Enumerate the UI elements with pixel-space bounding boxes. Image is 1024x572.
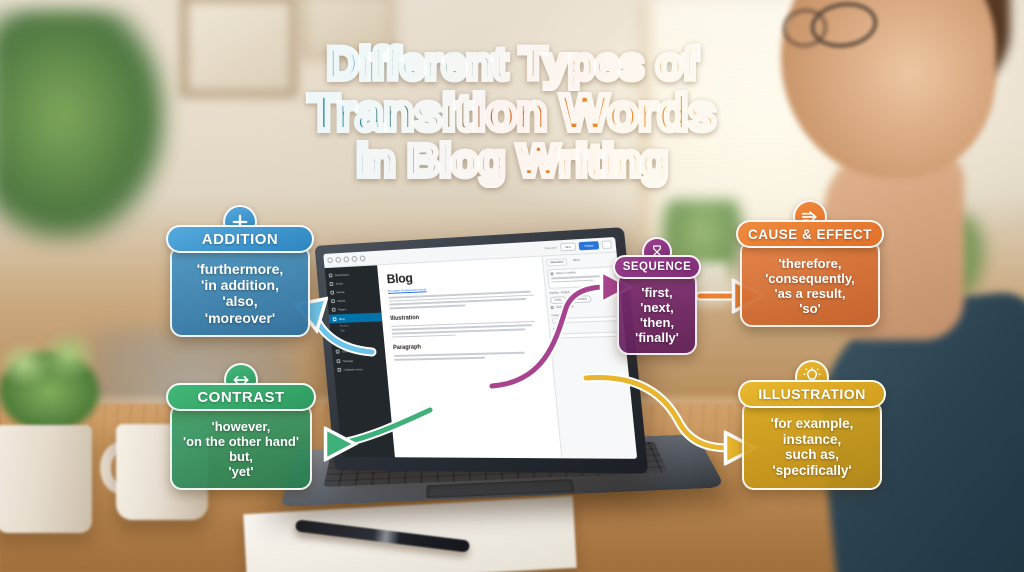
card-heading: ILLUSTRATION	[738, 380, 886, 408]
sidebar-item-label: Blog	[339, 317, 345, 321]
sidebar-item-label: Collapse menu	[344, 367, 363, 371]
stick-to-top-row[interactable]: Stick to the top	[551, 303, 619, 309]
status-visibility-label: Status & visibility	[556, 271, 576, 275]
sidebar-item-label: Users	[342, 350, 350, 354]
list-view-icon[interactable]	[360, 255, 366, 261]
card-word: 'in addition,	[178, 277, 302, 293]
sidebar-item-label: Posts	[336, 281, 343, 285]
card-word: 'next,	[623, 300, 691, 315]
card-word: 'on the other hand'	[178, 434, 304, 449]
sidebar-item-collapse-menu[interactable]: Collapse menu	[333, 364, 387, 374]
card-word: 'for example,	[750, 416, 874, 432]
inspector-tabs: Document Block	[546, 256, 614, 267]
card-word: 'also,	[178, 293, 302, 309]
plant-pot	[0, 425, 92, 533]
sidebar-item-label: Media	[336, 290, 344, 294]
card-words: 'however, 'on the other hand' but, 'yet'	[170, 403, 312, 490]
gear-icon	[336, 359, 340, 363]
save-button[interactable]: Save	[559, 242, 576, 251]
infographic-canvas: View post Save Publish Dashboard Posts	[0, 0, 1024, 572]
body-paragraph-3[interactable]	[394, 352, 543, 361]
card-word: 'however,	[178, 419, 304, 434]
card-word: 'consequently,	[748, 271, 872, 286]
card-word: but,	[178, 449, 304, 464]
info-icon[interactable]	[351, 256, 357, 262]
sidebar-item-label: Dashboard	[335, 272, 349, 277]
card-word: 'finally'	[623, 330, 691, 345]
categories-field[interactable]	[552, 316, 620, 323]
undo-icon[interactable]	[335, 257, 341, 263]
pin-icon	[329, 282, 333, 286]
laptop-screen: View post Save Publish Dashboard Posts	[323, 237, 637, 459]
card-heading: SEQUENCE	[613, 255, 701, 279]
sidebar-item-label: Settings	[343, 359, 353, 363]
pages-icon	[332, 308, 336, 312]
settings-gear-icon[interactable]	[602, 240, 612, 249]
media-icon	[330, 291, 334, 295]
editor-body: Dashboard Posts Media Media	[325, 253, 638, 459]
card-word: 'therefore,	[748, 256, 872, 271]
body-paragraph-2[interactable]	[391, 320, 541, 337]
tab-document[interactable]: Document	[546, 258, 567, 266]
visibility-label: Visibility	[549, 291, 559, 294]
visibility-chips: Public Immediately	[550, 294, 619, 304]
view-post-link[interactable]: View post	[544, 246, 557, 250]
heading-paragraph[interactable]: Paragraph	[393, 341, 542, 351]
dashboard-icon	[329, 273, 333, 277]
page-title: Different Types of Transition Words in B…	[0, 42, 1024, 183]
sidebar-item-label: Pages	[338, 308, 346, 312]
post-editor[interactable]: Blog Permalink: blog/transition-words Il…	[377, 257, 561, 459]
laptop-lid: View post Save Publish Dashboard Posts	[315, 227, 649, 473]
plugins-icon	[335, 341, 339, 345]
card-words: 'first, 'next, 'then, 'finally'	[617, 271, 697, 355]
card-heading: CAUSE & EFFECT	[736, 220, 884, 248]
card-heading: CONTRAST	[166, 383, 316, 411]
title-line-2: Transition Words	[0, 88, 1024, 137]
redo-icon[interactable]	[343, 256, 349, 262]
stick-to-top-label: Stick to the top	[556, 305, 574, 309]
card-word: 'yet'	[178, 464, 304, 479]
card-word: 'first,	[623, 285, 691, 300]
blog-icon	[333, 317, 337, 321]
body-paragraph[interactable]	[388, 290, 538, 309]
sidebar-item-label: Plugins	[341, 341, 351, 345]
tags-field[interactable]	[553, 331, 621, 338]
tab-block[interactable]: Block	[570, 257, 584, 265]
status-icon	[550, 272, 554, 275]
card-heading: ADDITION	[166, 225, 314, 253]
card-word: 'moreover'	[178, 310, 302, 326]
laptop-trackpad[interactable]	[426, 479, 575, 498]
publish-chip-immediately[interactable]: Immediately	[568, 295, 592, 303]
status-visibility-panel[interactable]: Status & visibility	[547, 266, 617, 288]
card-words: 'therefore, 'consequently, 'as a result,…	[740, 240, 880, 327]
title-line-3: in Blog Writing	[0, 139, 1024, 183]
card-words: 'for example, instance, such as, 'specif…	[742, 400, 882, 490]
toolbar-spacer	[368, 248, 541, 258]
visibility-chip-public[interactable]: Public	[550, 296, 567, 304]
users-icon	[336, 350, 340, 354]
card-word: 'as a result,	[748, 286, 872, 301]
checkbox-stick-to-top[interactable]	[551, 306, 555, 309]
title-line-1: Different Types of	[0, 42, 1024, 86]
card-word: 'specifically'	[750, 463, 874, 479]
media-icon	[331, 299, 335, 303]
card-word: 'so'	[748, 301, 872, 316]
card-word: 'then,	[623, 315, 691, 330]
heading-illustration[interactable]: Illustration	[390, 310, 539, 321]
publish-button[interactable]: Publish	[579, 241, 599, 250]
card-words: 'furthermore, 'in addition, 'also, 'more…	[170, 245, 310, 337]
card-word: 'furthermore,	[178, 261, 302, 277]
card-word: such as,	[750, 447, 874, 463]
collapse-icon	[337, 368, 341, 372]
block-inserter-icon[interactable]	[327, 257, 333, 263]
sidebar-item-label: Media	[337, 299, 345, 303]
card-word: instance,	[750, 432, 874, 448]
publish-label: Publish	[561, 291, 570, 294]
